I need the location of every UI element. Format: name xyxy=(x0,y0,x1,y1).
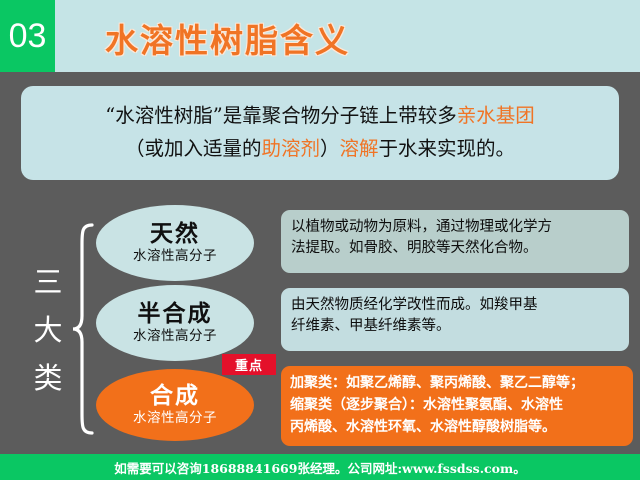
group-label-char-1: 三 xyxy=(28,258,68,306)
description-line: 缩聚类（逐步聚合）：水溶性聚氨酯、水溶性 xyxy=(290,394,624,416)
description-box-natural: 以植物或动物为原料，通过物理或化学方 法提取。如骨胶、明胶等天然化合物。 xyxy=(281,210,629,273)
description-line: 法提取。如骨胶、明胶等天然化合物。 xyxy=(291,238,619,259)
key-point-badge: 重点 xyxy=(222,354,276,375)
slide-root: 03 水溶性树脂含义 “水溶性树脂”是靠聚合物分子链上带较多亲水基团 （或加入适… xyxy=(0,0,640,480)
footer-contact-text: 如需要可以咨询18688841669张经理。公司网址:www.fssdss.co… xyxy=(114,458,525,477)
definition-text-plain-4: 于水来实现的。 xyxy=(379,137,516,160)
definition-line-2: （或加入适量的助溶剂）溶解于水来实现的。 xyxy=(35,132,605,165)
description-line: 以植物或动物为原料，通过物理或化学方 xyxy=(291,217,619,238)
slide-header: 03 水溶性树脂含义 xyxy=(0,0,640,72)
description-line: 加聚类：如聚乙烯醇、聚丙烯酸、聚乙二醇等； xyxy=(290,372,624,394)
page-title: 水溶性树脂含义 xyxy=(105,14,350,62)
description-box-semi-synthetic: 由天然物质经化学改性而成。如羧甲基 纤维素、甲基纤维素等。 xyxy=(281,288,629,351)
description-line: 纤维素、甲基纤维素等。 xyxy=(291,316,619,337)
definition-text-highlight-3: 溶解 xyxy=(340,137,379,160)
category-ellipse-synthetic[interactable]: 合成 水溶性高分子 xyxy=(96,369,254,441)
category-subtitle-synthetic: 水溶性高分子 xyxy=(133,409,217,428)
group-label-char-2: 大 xyxy=(28,306,68,354)
definition-panel: “水溶性树脂”是靠聚合物分子链上带较多亲水基团 （或加入适量的助溶剂）溶解于水来… xyxy=(21,86,619,180)
definition-text-highlight-2: 助溶剂 xyxy=(261,137,320,160)
curly-brace-icon xyxy=(70,222,96,436)
description-line: 由天然物质经化学改性而成。如羧甲基 xyxy=(291,295,619,316)
category-name-natural: 天然 xyxy=(150,221,200,247)
definition-line-1: “水溶性树脂”是靠聚合物分子链上带较多亲水基团 xyxy=(35,99,605,132)
definition-text-highlight-1: 亲水基团 xyxy=(457,104,535,127)
category-ellipse-natural[interactable]: 天然 水溶性高分子 xyxy=(96,205,254,281)
group-label-three-types: 三 大 类 xyxy=(28,258,68,402)
description-line: 丙烯酸、水溶性环氧、水溶性醇酸树脂等。 xyxy=(290,416,624,438)
definition-text-plain-3: ） xyxy=(320,137,340,160)
description-box-synthetic: 加聚类：如聚乙烯醇、聚丙烯酸、聚乙二醇等； 缩聚类（逐步聚合）：水溶性聚氨酯、水… xyxy=(281,366,633,446)
category-name-synthetic: 合成 xyxy=(150,383,200,409)
key-point-badge-label: 重点 xyxy=(235,355,263,374)
category-subtitle-natural: 水溶性高分子 xyxy=(133,247,217,266)
category-name-semi-synthetic: 半合成 xyxy=(138,301,213,327)
definition-text-plain-2: （或加入适量的 xyxy=(125,137,262,160)
group-label-char-3: 类 xyxy=(28,354,68,402)
definition-text-plain-1: “水溶性树脂”是靠聚合物分子链上带较多 xyxy=(105,104,456,127)
section-number-text: 03 xyxy=(9,19,47,53)
section-number-badge: 03 xyxy=(0,0,55,72)
category-subtitle-semi-synthetic: 水溶性高分子 xyxy=(133,327,217,346)
category-ellipse-semi-synthetic[interactable]: 半合成 水溶性高分子 xyxy=(96,285,254,361)
slide-footer: 如需要可以咨询18688841669张经理。公司网址:www.fssdss.co… xyxy=(0,454,640,480)
